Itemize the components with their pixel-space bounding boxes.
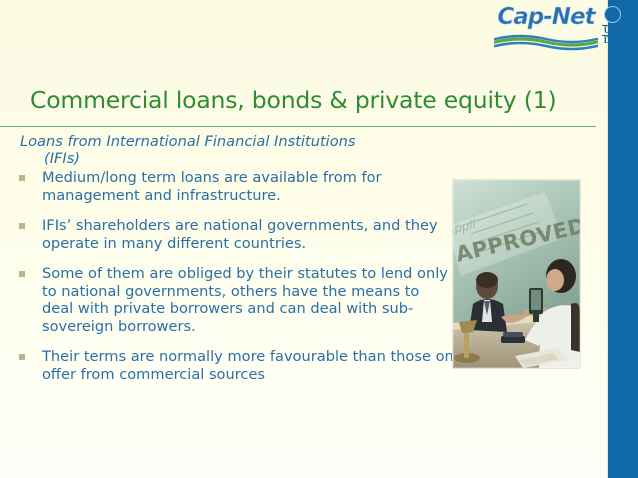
capnet-word-net: Net <box>552 4 595 30</box>
un-emblem-icon <box>604 6 621 23</box>
logo-zone: Cap-Net U N D P <box>490 0 608 62</box>
list-item-text: Their terms are normally more favourable… <box>42 348 454 383</box>
right-accent-bar <box>608 0 638 478</box>
undp-letter-d: D <box>602 36 613 45</box>
capnet-logo: Cap-Net <box>494 6 598 56</box>
list-item: Their terms are normally more favourable… <box>14 348 454 383</box>
bullet-square-icon <box>19 175 25 181</box>
list-item: IFIs’ shareholders are national governme… <box>14 217 454 252</box>
bullet-list: Medium/long term loans are available fro… <box>14 169 454 383</box>
capnet-dash: - <box>543 4 552 30</box>
bullet-square-icon <box>19 223 25 229</box>
bullet-square-icon <box>19 271 25 277</box>
undp-logo-box: U N D P <box>600 2 626 48</box>
list-item: Some of them are obliged by their statut… <box>14 265 454 335</box>
slide-body: Loans from International Financial Insti… <box>14 133 454 396</box>
slide-title: Commercial loans, bonds & private equity… <box>30 86 590 114</box>
capnet-word-cap: Cap <box>497 4 543 30</box>
title-underline-rule <box>0 126 596 127</box>
list-item: Medium/long term loans are available fro… <box>14 169 454 204</box>
lead-line-2: (IFIs) <box>44 150 454 167</box>
slide-canvas: Cap-Net U N D P <box>0 0 638 478</box>
undp-lettermark: U N D P <box>602 26 624 46</box>
undp-letter-p: P <box>613 36 624 45</box>
bullet-square-icon <box>19 354 25 360</box>
capnet-wave-icon <box>494 32 598 54</box>
loan-approval-photo: APPROVED Appli <box>453 180 580 368</box>
undp-letter-n: N <box>613 26 624 35</box>
list-item-text: Some of them are obliged by their statut… <box>42 265 448 335</box>
lead-paragraph: Loans from International Financial Insti… <box>20 133 454 167</box>
list-item-text: IFIs’ shareholders are national governme… <box>42 217 438 252</box>
undp-letter-u: U <box>602 26 613 35</box>
photo-artwork: APPROVED Appli <box>453 180 580 368</box>
list-item-text: Medium/long term loans are available fro… <box>42 169 382 204</box>
capnet-wordmark: Cap-Net <box>494 6 598 29</box>
lead-line-1: Loans from International Financial Insti… <box>20 133 356 150</box>
